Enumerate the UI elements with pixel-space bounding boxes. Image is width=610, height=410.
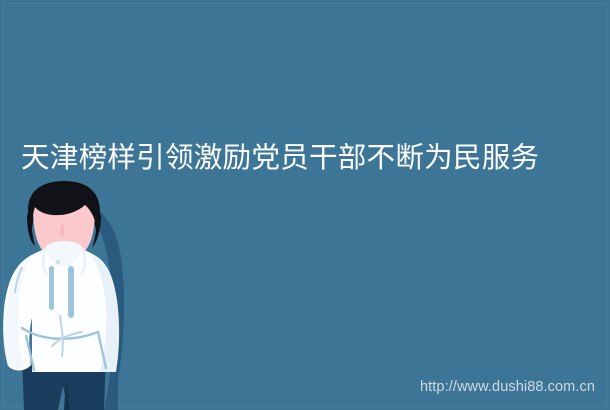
- article-thumbnail: 天津榜样引领激励党员干部不断为民服务 http://www.dushi88.co…: [0, 0, 610, 410]
- hood-eyelet: [56, 260, 61, 265]
- person-in-white-hoodie-graphic: [0, 180, 190, 410]
- person-illustration: [0, 180, 190, 410]
- drawstring-right: [68, 266, 74, 318]
- source-watermark: http://www.dushi88.com.cn: [420, 378, 595, 396]
- drawstring-left: [49, 266, 54, 310]
- headline-text: 天津榜样引领激励党员干部不断为民服务: [21, 141, 599, 177]
